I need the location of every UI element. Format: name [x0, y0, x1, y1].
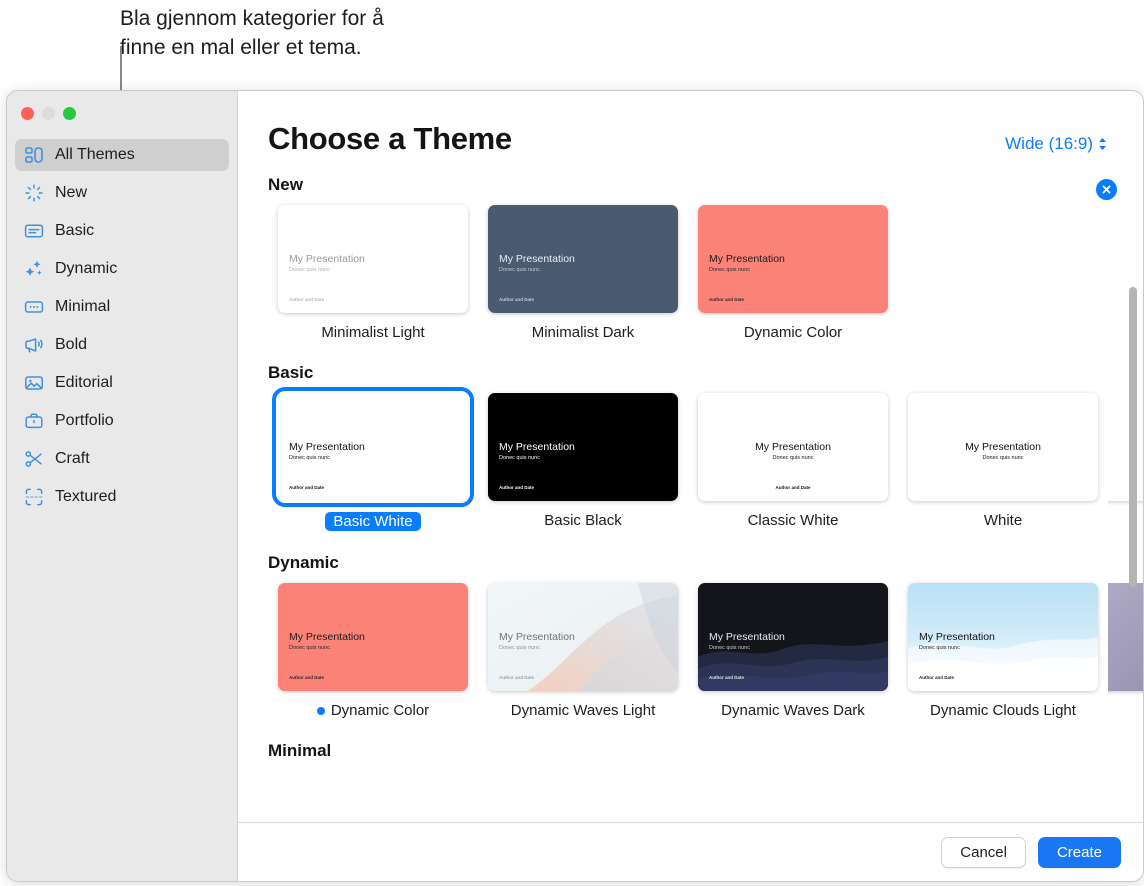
thumbnail-subtitle: Donec quis nunc [709, 645, 750, 651]
thumbnail-title: My Presentation [908, 441, 1098, 453]
content-header: Choose a Theme Wide (16:9) [238, 91, 1143, 157]
sidebar-item-label: All Themes [55, 146, 135, 164]
sidebar-item-label: Textured [55, 488, 116, 506]
thumbnail-footer: Author and Date [499, 485, 534, 490]
theme-cell[interactable]: My PresentationDonec quis nuncAuthor and… [268, 393, 478, 531]
theme-caption: Dynamic Color [317, 702, 429, 719]
theme-thumbnail[interactable]: My PresentationDonec quis nuncAuthor and… [698, 583, 888, 691]
close-icon [1101, 184, 1112, 195]
zoom-window-button[interactable] [63, 107, 76, 120]
thumbnail-footer: Author and Date [698, 485, 888, 490]
content-area: Choose a Theme Wide (16:9) NewMy Present… [238, 91, 1143, 881]
theme-section: BasicMy PresentationDonec quis nuncAutho… [268, 363, 1143, 531]
chevron-updown-icon [1098, 137, 1107, 151]
theme-thumbnail[interactable] [1108, 583, 1143, 691]
theme-caption: Classic White [748, 512, 839, 529]
theme-name-label: Basic White [333, 513, 412, 530]
minimize-window-button[interactable] [42, 107, 55, 120]
sidebar-item-new[interactable]: New [15, 177, 229, 209]
thumbnail-title: My Presentation [289, 631, 365, 643]
theme-cell-partial[interactable] [1108, 393, 1143, 531]
thumbnail-footer: Author and Date [709, 297, 744, 302]
thumbnail-subtitle: Donec quis nunc [499, 455, 540, 461]
theme-caption: Dynamic Waves Light [511, 702, 656, 719]
aspect-ratio-label: Wide (16:9) [1005, 134, 1093, 154]
grid-icon [23, 144, 45, 166]
theme-caption: Dynamic Color [744, 324, 842, 341]
theme-section: DynamicMy PresentationDonec quis nuncAut… [268, 553, 1143, 719]
briefcase-icon [23, 410, 45, 432]
theme-thumbnail[interactable]: My PresentationDonec quis nuncAuthor and… [698, 393, 888, 501]
sidebar-item-label: Editorial [55, 374, 113, 392]
thumbnail-title: My Presentation [289, 253, 365, 265]
sidebar-item-basic[interactable]: Basic [15, 215, 229, 247]
theme-name-label: White [984, 512, 1022, 529]
theme-cell[interactable]: My PresentationDonec quis nuncAuthor and… [268, 205, 478, 341]
photo-icon [23, 372, 45, 394]
cancel-button[interactable]: Cancel [941, 837, 1026, 868]
thumbnail-subtitle: Donec quis nunc [289, 455, 330, 461]
footer-bar: Cancel Create [238, 822, 1143, 881]
theme-name-label: Minimalist Light [321, 324, 424, 341]
sidebar-item-portfolio[interactable]: Portfolio [15, 405, 229, 437]
theme-name-label: Basic Black [544, 512, 622, 529]
scissors-icon [23, 448, 45, 470]
sidebar-item-label: Minimal [55, 298, 110, 316]
thumbnail-title: My Presentation [919, 631, 995, 643]
theme-cell[interactable]: My PresentationDonec quis nuncAuthor and… [478, 583, 688, 719]
sparkle-burst-icon [23, 182, 45, 204]
theme-caption: Minimalist Light [321, 324, 424, 341]
theme-thumbnail[interactable]: My PresentationDonec quis nuncAuthor and… [278, 393, 468, 501]
theme-row: My PresentationDonec quis nuncAuthor and… [268, 583, 1143, 719]
thumbnail-footer: Author and Date [289, 297, 324, 302]
thumbnail-subtitle: Donec quis nunc [908, 455, 1098, 461]
sidebar-item-label: Craft [55, 450, 90, 468]
sidebar-item-all-themes[interactable]: All Themes [15, 139, 229, 171]
theme-thumbnail[interactable]: My PresentationDonec quis nuncAuthor and… [908, 583, 1098, 691]
sidebar-item-label: Dynamic [55, 260, 117, 278]
thumbnail-subtitle: Donec quis nunc [698, 455, 888, 461]
theme-name-label: Dynamic Color [331, 702, 429, 719]
theme-thumbnail[interactable]: My PresentationDonec quis nuncAuthor and… [488, 583, 678, 691]
theme-name-label: Minimalist Dark [532, 324, 635, 341]
sidebar-item-label: Portfolio [55, 412, 114, 430]
thumbnail-title: My Presentation [499, 253, 575, 265]
theme-row: My PresentationDonec quis nuncAuthor and… [268, 205, 1143, 341]
theme-thumbnail[interactable]: My PresentationDonec quis nuncAuthor and… [278, 205, 468, 313]
window-controls [21, 107, 76, 120]
thumbnail-subtitle: Donec quis nunc [499, 267, 540, 273]
aspect-ratio-popup-button[interactable]: Wide (16:9) [1005, 134, 1107, 154]
theme-thumbnail[interactable] [1108, 393, 1143, 501]
section-heading: Minimal [268, 741, 1143, 761]
theme-thumbnail[interactable]: My PresentationDonec quis nuncAuthor and… [278, 583, 468, 691]
theme-name-label: Classic White [748, 512, 839, 529]
theme-cell-partial[interactable] [1108, 583, 1143, 719]
theme-caption: Dynamic Clouds Light [930, 702, 1076, 719]
theme-cell[interactable]: My PresentationDonec quis nuncAuthor and… [478, 393, 688, 531]
thumbnail-title: My Presentation [499, 631, 575, 643]
section-heading: Dynamic [268, 553, 1143, 573]
theme-caption: Basic White [325, 512, 420, 531]
thumbnail-footer: Author and Date [289, 485, 324, 490]
sidebar-item-minimal[interactable]: Minimal [15, 291, 229, 323]
theme-cell[interactable]: My PresentationDonec quis nuncAuthor and… [688, 393, 898, 531]
crop-frame-icon [23, 486, 45, 508]
thumbnail-subtitle: Donec quis nunc [499, 645, 540, 651]
theme-caption: Minimalist Dark [532, 324, 635, 341]
theme-cell[interactable]: My PresentationDonec quis nuncAuthor and… [898, 583, 1108, 719]
sidebar-item-craft[interactable]: Craft [15, 443, 229, 475]
theme-section: NewMy PresentationDonec quis nuncAuthor … [268, 175, 1143, 341]
section-heading: Basic [268, 363, 1143, 383]
section-heading: New [268, 175, 1143, 195]
sidebar-item-textured[interactable]: Textured [15, 481, 229, 513]
sidebar: All ThemesNewBasicDynamicMinimalBoldEdit… [7, 91, 238, 881]
thumbnail-title: My Presentation [499, 441, 575, 453]
page-title: Choose a Theme [268, 121, 512, 157]
thumbnail-title: My Presentation [709, 631, 785, 643]
thumbnail-footer: Author and Date [709, 675, 744, 680]
thumbnail-footer: Author and Date [499, 675, 534, 680]
callout-text: Bla gjennom kategorier for å finne en ma… [120, 4, 540, 62]
current-theme-dot-icon [317, 707, 325, 715]
theme-caption: Basic Black [544, 512, 622, 529]
close-window-button[interactable] [21, 107, 34, 120]
theme-name-label: Dynamic Waves Dark [721, 702, 865, 719]
sidebar-item-bold[interactable]: Bold [15, 329, 229, 361]
theme-cell[interactable]: My PresentationDonec quis nuncWhite [898, 393, 1108, 531]
sparkles-icon [23, 258, 45, 280]
sidebar-item-label: New [55, 184, 87, 202]
theme-caption: White [984, 512, 1022, 529]
theme-thumbnail[interactable]: My PresentationDonec quis nuncAuthor and… [488, 205, 678, 313]
sidebar-item-label: Bold [55, 336, 87, 354]
thumbnail-subtitle: Donec quis nunc [289, 645, 330, 651]
megaphone-icon [23, 334, 45, 356]
thumbnail-footer: Author and Date [289, 675, 324, 680]
thumbnail-subtitle: Donec quis nunc [709, 267, 750, 273]
theme-cell[interactable]: My PresentationDonec quis nuncAuthor and… [478, 205, 688, 341]
theme-cell[interactable]: My PresentationDonec quis nuncAuthor and… [688, 205, 898, 341]
close-section-button[interactable] [1096, 179, 1117, 200]
theme-name-label: Dynamic Clouds Light [930, 702, 1076, 719]
text-box-icon [23, 220, 45, 242]
thumbnail-title: My Presentation [709, 253, 785, 265]
theme-cell[interactable]: My PresentationDonec quis nuncAuthor and… [688, 583, 898, 719]
thumbnail-subtitle: Donec quis nunc [919, 645, 960, 651]
theme-thumbnail[interactable]: My PresentationDonec quis nuncAuthor and… [698, 205, 888, 313]
thumbnail-footer: Author and Date [919, 675, 954, 680]
sidebar-item-label: Basic [55, 222, 94, 240]
sidebar-item-dynamic[interactable]: Dynamic [15, 253, 229, 285]
theme-scroll-area[interactable]: NewMy PresentationDonec quis nuncAuthor … [238, 157, 1143, 822]
theme-thumbnail[interactable]: My PresentationDonec quis nunc [908, 393, 1098, 501]
vertical-scrollbar[interactable] [1129, 287, 1137, 587]
theme-caption: Dynamic Waves Dark [721, 702, 865, 719]
sidebar-item-editorial[interactable]: Editorial [15, 367, 229, 399]
theme-row: My PresentationDonec quis nuncAuthor and… [268, 393, 1143, 531]
dots-box-icon [23, 296, 45, 318]
thumbnail-title: My Presentation [289, 441, 365, 453]
theme-name-label: Dynamic Color [744, 324, 842, 341]
theme-section: Minimal [268, 741, 1143, 771]
thumbnail-footer: Author and Date [499, 297, 534, 302]
theme-chooser-window: All ThemesNewBasicDynamicMinimalBoldEdit… [6, 90, 1144, 882]
theme-cell[interactable]: My PresentationDonec quis nuncAuthor and… [268, 583, 478, 719]
thumbnail-subtitle: Donec quis nunc [289, 267, 330, 273]
thumbnail-title: My Presentation [698, 441, 888, 453]
theme-thumbnail[interactable]: My PresentationDonec quis nuncAuthor and… [488, 393, 678, 501]
create-button[interactable]: Create [1038, 837, 1121, 868]
theme-name-label: Dynamic Waves Light [511, 702, 656, 719]
